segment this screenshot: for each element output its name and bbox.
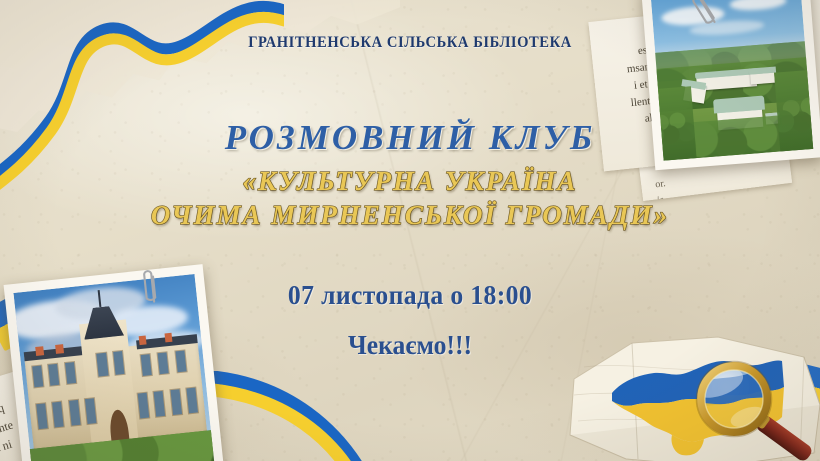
poster-canvas: t lam r - or. is, es ac msan ut i et ips… [0,0,820,461]
poster-subtitle-line-2: ОЧИМА МИРНЕНСЬКОЇ ГРОМАДИ» [0,200,820,231]
library-name-heading: ГРАНІТНЕНСЬКА СІЛЬСЬКА БІБЛІОТЕКА [25,34,796,52]
page-title: РОЗМОВНИЙ КЛУБ [0,118,820,158]
poster-subtitle-line-1: «КУЛЬТУРНА УКРАЇНА [0,166,820,197]
event-date-time: 07 листопада о 18:00 [21,280,800,311]
event-call-to-action: Чекаємо!!! [21,330,800,361]
